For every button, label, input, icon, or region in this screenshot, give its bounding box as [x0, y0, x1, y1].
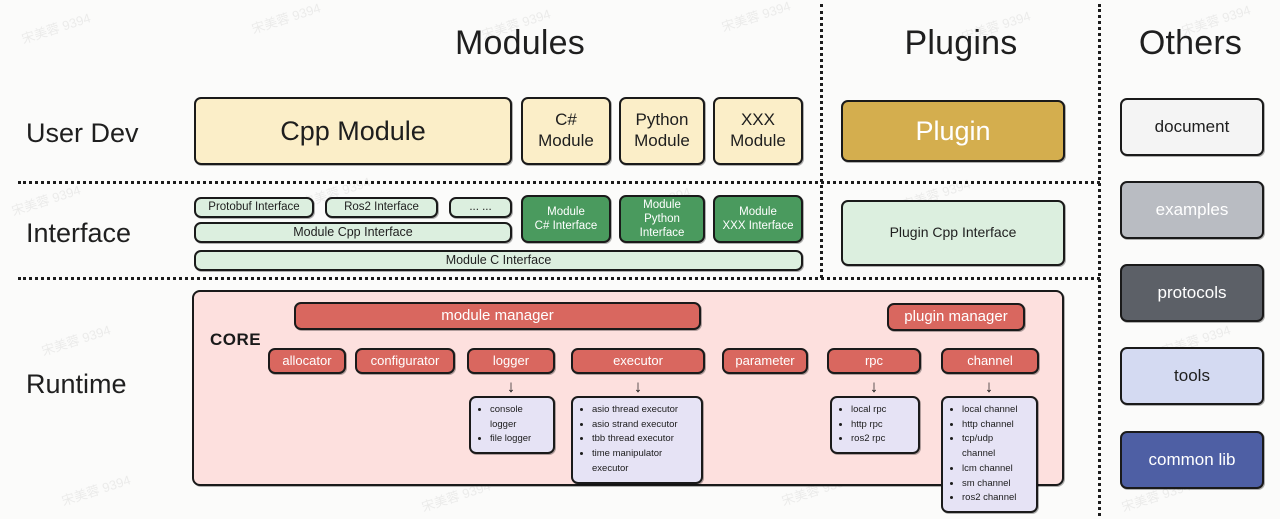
bullet-item: tcp/udp channel	[962, 432, 1029, 461]
bullet-item: tbb thread executor	[592, 432, 694, 447]
bullet-item: time manipulator executor	[592, 447, 694, 476]
core-module-manager[interactable]: module manager	[294, 302, 701, 330]
core-component-channel[interactable]: channel	[941, 348, 1039, 374]
bullet-item: sm channel	[962, 477, 1029, 492]
rpc-bullet-list: local rpchttp rpcros2 rpc	[838, 403, 911, 447]
executor-bullet-list: asio thread executorasio strand executor…	[579, 403, 694, 477]
user-dev-cpp-module[interactable]: Cpp Module	[194, 97, 512, 165]
row-label-interface: Interface	[26, 218, 131, 249]
watermark: 宋美蓉 9394	[59, 469, 133, 509]
arrow-down-icon: ↓	[630, 378, 646, 395]
user-dev-xxx-module[interactable]: XXX Module	[713, 97, 803, 165]
interface-module-c[interactable]: Module C Interface	[194, 250, 803, 271]
others-item-document[interactable]: document	[1120, 98, 1264, 156]
bullet-item: lcm channel	[962, 462, 1029, 477]
arrow-down-icon: ↓	[503, 378, 519, 395]
core-plugin-manager[interactable]: plugin manager	[887, 303, 1025, 331]
channel-bullet-list: local channelhttp channeltcp/udp channel…	[949, 403, 1029, 506]
user-dev-plugin[interactable]: Plugin	[841, 100, 1065, 162]
interface-module-csharp[interactable]: Module C# Interface	[521, 195, 611, 243]
bullet-item: http channel	[962, 418, 1029, 433]
core-component-parameter[interactable]: parameter	[722, 348, 808, 374]
interface-module-cpp[interactable]: Module Cpp Interface	[194, 222, 512, 243]
interface-protobuf[interactable]: Protobuf Interface	[194, 197, 314, 218]
bullet-item: ros2 rpc	[851, 432, 911, 447]
interface-module-python[interactable]: Module Python Interface	[619, 195, 705, 243]
bullet-item: ros2 channel	[962, 491, 1029, 506]
divider-userdev-interface	[18, 181, 1100, 184]
user-dev-python-module[interactable]: Python Module	[619, 97, 705, 165]
watermark: 宋美蓉 9394	[9, 179, 83, 219]
core-component-configurator[interactable]: configurator	[355, 348, 455, 374]
row-label-runtime: Runtime	[26, 369, 127, 400]
row-label-user-dev: User Dev	[26, 118, 139, 149]
bullet-item: asio thread executor	[592, 403, 694, 418]
interface-module-xxx[interactable]: Module XXX Interface	[713, 195, 803, 243]
core-channel-details: local channelhttp channeltcp/udp channel…	[941, 396, 1038, 513]
core-label: CORE	[210, 330, 261, 350]
divider-interface-runtime	[18, 277, 1100, 280]
bullet-item: file logger	[490, 432, 546, 447]
column-title-others: Others	[1108, 24, 1273, 63]
bullet-item: asio strand executor	[592, 418, 694, 433]
core-component-logger[interactable]: logger	[467, 348, 555, 374]
column-title-plugins: Plugins	[838, 24, 1084, 63]
divider-others	[1098, 4, 1101, 516]
core-component-allocator[interactable]: allocator	[268, 348, 346, 374]
logger-bullet-list: console loggerfile logger	[477, 403, 546, 447]
others-item-protocols[interactable]: protocols	[1120, 264, 1264, 322]
core-logger-details: console loggerfile logger	[469, 396, 555, 454]
interface-ellipsis[interactable]: ... ...	[449, 197, 512, 218]
others-item-examples[interactable]: examples	[1120, 181, 1264, 239]
core-component-executor[interactable]: executor	[571, 348, 705, 374]
column-title-modules: Modules	[300, 24, 740, 63]
diagram-canvas: 宋美蓉 9394 宋美蓉 9394 宋美蓉 9394 宋美蓉 9394 宋美蓉 …	[0, 0, 1280, 519]
arrow-down-icon: ↓	[866, 378, 882, 395]
bullet-item: local rpc	[851, 403, 911, 418]
arrow-down-icon: ↓	[981, 378, 997, 395]
user-dev-csharp-module[interactable]: C# Module	[521, 97, 611, 165]
core-component-rpc[interactable]: rpc	[827, 348, 921, 374]
bullet-item: console logger	[490, 403, 546, 432]
core-rpc-details: local rpchttp rpcros2 rpc	[830, 396, 920, 454]
bullet-item: http rpc	[851, 418, 911, 433]
interface-ros2[interactable]: Ros2 Interface	[325, 197, 438, 218]
others-item-common-lib[interactable]: common lib	[1120, 431, 1264, 489]
divider-modules-plugins	[820, 4, 823, 278]
watermark: 宋美蓉 9394	[39, 319, 113, 359]
bullet-item: local channel	[962, 403, 1029, 418]
core-executor-details: asio thread executorasio strand executor…	[571, 396, 703, 484]
others-item-tools[interactable]: tools	[1120, 347, 1264, 405]
interface-plugin-cpp[interactable]: Plugin Cpp Interface	[841, 200, 1065, 266]
watermark: 宋美蓉 9394	[19, 7, 93, 47]
